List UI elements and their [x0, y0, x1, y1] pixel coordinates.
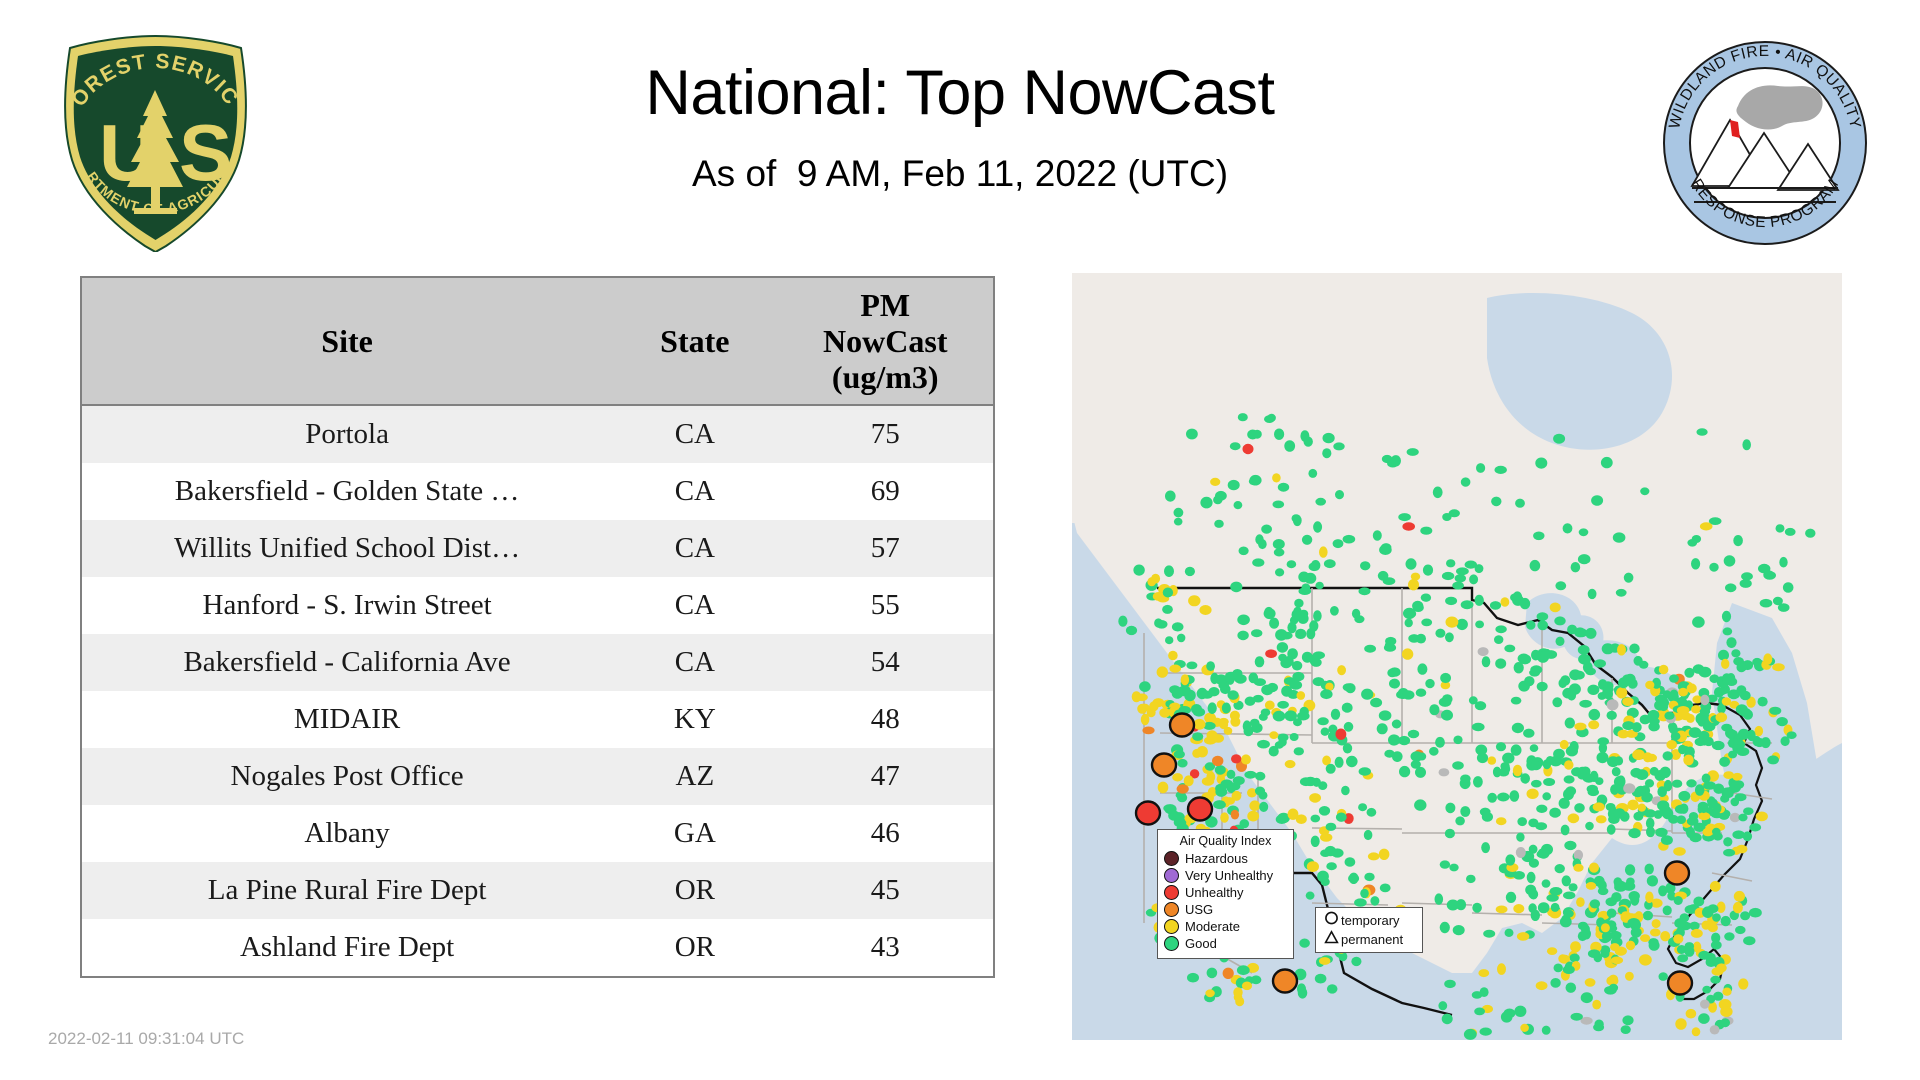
monitor-dot	[1578, 931, 1587, 941]
monitor-dot	[1377, 723, 1388, 734]
monitor-dot	[1722, 988, 1731, 996]
monitor-dot	[1631, 927, 1642, 937]
top-site-marker[interactable]	[1273, 970, 1297, 993]
monitor-dot	[1177, 784, 1189, 793]
monitor-dot	[1542, 1026, 1551, 1035]
cell-pm: 57	[778, 520, 994, 577]
monitor-dot	[1478, 969, 1489, 977]
monitor-dot	[1420, 527, 1432, 535]
monitor-dot	[1647, 875, 1658, 886]
legend-swatch-good-icon	[1164, 936, 1179, 951]
monitor-dot	[1778, 603, 1790, 612]
monitor-dot	[1700, 522, 1713, 530]
monitor-dot	[1599, 743, 1607, 754]
monitor-dot	[1710, 976, 1720, 984]
monitor-dot	[1645, 864, 1654, 875]
monitor-dot	[1613, 532, 1626, 542]
top-site-marker[interactable]	[1136, 802, 1160, 825]
monitor-dot	[1333, 442, 1344, 450]
monitor-dot	[1408, 579, 1419, 590]
monitor-dot	[1399, 766, 1410, 777]
monitor-dot	[1389, 667, 1401, 676]
monitor-dot	[1505, 854, 1515, 865]
monitor-dot	[1763, 571, 1776, 580]
monitor-dot	[1294, 599, 1303, 608]
legend-label-hazardous: Hazardous	[1185, 852, 1248, 866]
cell-site: Bakersfield - Golden State …	[81, 463, 612, 520]
legend-label-very-unhealthy: Very Unhealthy	[1185, 869, 1273, 883]
monitor-dot	[1589, 863, 1599, 873]
cell-pm: 75	[778, 405, 994, 463]
monitor-dot	[1337, 665, 1346, 675]
cell-site: Hanford - S. Irwin Street	[81, 577, 612, 634]
monitor-dot	[1618, 677, 1629, 688]
monitor-dot	[1466, 875, 1476, 883]
monitor-dot	[1699, 667, 1712, 678]
monitor-dot	[1543, 778, 1555, 786]
monitor-dot	[1564, 841, 1576, 850]
legend-swatch-moderate-icon	[1164, 919, 1179, 934]
monitor-dot	[1514, 1006, 1526, 1017]
table-row: Nogales Post Office AZ 47	[81, 748, 994, 805]
monitor-dot	[1677, 954, 1688, 962]
monitor-dot	[1783, 582, 1794, 593]
monitor-dot	[1675, 1018, 1686, 1030]
monitor-dot	[1418, 753, 1427, 761]
monitor-dot	[1200, 497, 1212, 509]
monitor-dot	[1326, 862, 1337, 870]
monitor-dot	[1755, 726, 1764, 736]
monitor-dot	[1738, 978, 1748, 989]
cell-pm: 69	[778, 463, 994, 520]
monitor-dot	[1587, 685, 1599, 695]
cell-pm: 45	[778, 862, 994, 919]
monitor-dot	[1439, 768, 1450, 776]
monitor-dot	[1118, 616, 1127, 627]
monitor-dot	[1585, 822, 1594, 831]
monitor-dot	[1591, 495, 1603, 506]
monitor-dot	[1607, 824, 1616, 834]
monitor-dot	[1289, 680, 1302, 689]
cell-site: MIDAIR	[81, 691, 612, 748]
monitor-dot	[1473, 776, 1483, 787]
monitor-dot	[1177, 634, 1185, 643]
monitor-dot	[1650, 767, 1659, 776]
monitor-dot	[1700, 695, 1709, 706]
cell-pm: 47	[778, 748, 994, 805]
monitor-dot	[1469, 574, 1478, 584]
monitor-dot	[1290, 733, 1299, 741]
aqi-legend-title: Air Quality Index	[1164, 834, 1287, 848]
top-site-marker[interactable]	[1152, 754, 1176, 777]
monitor-dot	[1378, 571, 1389, 581]
monitor-dot	[1710, 1025, 1720, 1034]
monitor-dot	[1461, 477, 1471, 486]
table-body: Portola CA 75 Bakersfield - Golden State…	[81, 405, 994, 977]
monitor-dot	[1723, 627, 1733, 635]
monitor-dot	[1691, 558, 1700, 569]
monitor-dot	[1456, 619, 1468, 630]
monitor-dot	[1245, 697, 1256, 706]
monitor-dot	[1207, 968, 1218, 979]
monitor-dot	[1304, 777, 1317, 786]
monitor-dot	[1228, 480, 1240, 490]
monitor-dot	[1716, 963, 1727, 972]
monitor-dot	[1495, 625, 1506, 633]
monitor-dot	[1322, 448, 1331, 458]
monitor-dot	[1709, 674, 1719, 683]
monitor-dot	[1692, 616, 1705, 627]
monitor-dot	[1278, 483, 1289, 492]
monitor-dot	[1425, 679, 1434, 688]
top-site-marker[interactable]	[1668, 972, 1692, 995]
monitor-dot	[1257, 740, 1270, 749]
monitor-dot	[1261, 709, 1271, 717]
monitor-dot	[1515, 499, 1525, 508]
monitor-dot	[1223, 968, 1234, 979]
monitor-dot	[1756, 812, 1768, 822]
monitor-dot	[1315, 498, 1326, 506]
monitor-dot	[1659, 972, 1668, 981]
cell-state: CA	[612, 520, 777, 577]
monitor-dot	[1455, 574, 1466, 582]
monitor-dot	[1636, 786, 1647, 795]
cell-pm: 43	[778, 919, 994, 977]
monitor-dot	[1569, 883, 1578, 891]
monitor-dot	[1336, 729, 1347, 740]
monitor-dot	[1702, 986, 1711, 994]
monitor-dot	[1677, 706, 1690, 715]
monitor-dot	[1661, 835, 1673, 845]
monitor-dot	[1250, 719, 1260, 727]
monitor-dot	[1293, 718, 1302, 726]
monitor-dot	[1408, 730, 1419, 739]
triangle-marker-icon	[1321, 930, 1341, 950]
monitor-dot	[1711, 941, 1722, 950]
cell-state: OR	[612, 919, 777, 977]
monitor-dot	[1275, 568, 1284, 576]
monitor-dot	[1520, 598, 1530, 609]
table-row: Ashland Fire Dept OR 43	[81, 919, 994, 977]
monitor-dot	[1554, 616, 1565, 625]
monitor-dot	[1292, 672, 1304, 681]
monitor-dot	[1547, 947, 1557, 955]
monitor-dot	[1645, 779, 1654, 787]
monitor-dot	[1574, 803, 1585, 813]
monitor-dot	[1698, 951, 1710, 960]
cell-site: Portola	[81, 405, 612, 463]
monitor-dot	[1202, 777, 1214, 786]
monitor-dot	[1251, 629, 1262, 637]
monitor-dot	[1354, 898, 1367, 906]
monitor-dot	[1494, 635, 1503, 644]
legend-item-usg: USG	[1164, 901, 1287, 918]
cell-site: Bakersfield - California Ave	[81, 634, 612, 691]
monitor-dot	[1264, 607, 1273, 618]
monitor-dot	[1364, 830, 1373, 840]
monitor-dot	[1769, 707, 1781, 715]
monitor-dot	[1570, 941, 1581, 952]
monitor-dot	[1749, 823, 1761, 831]
monitor-dot	[1358, 803, 1367, 811]
monitor-dot	[1721, 1018, 1730, 1027]
cell-site: Nogales Post Office	[81, 748, 612, 805]
monitor-dot	[1435, 893, 1444, 904]
monitor-dot	[1481, 842, 1490, 853]
monitor-dot	[1455, 816, 1465, 825]
monitor-dot	[1578, 645, 1590, 655]
monitor-dot	[1658, 885, 1667, 896]
monitor-dot	[1142, 727, 1154, 735]
monitor-dot	[1556, 637, 1565, 646]
monitor-dot	[1698, 731, 1709, 740]
monitor-dot	[1149, 701, 1158, 711]
monitor-dot	[1460, 806, 1470, 817]
monitor-dot	[1698, 1013, 1710, 1024]
monitor-dot	[1720, 1006, 1732, 1017]
monitor-dot	[1385, 640, 1395, 651]
monitor-dot	[1528, 819, 1538, 828]
monitor-dot	[1738, 708, 1751, 717]
monitor-dot	[1785, 528, 1796, 536]
monitor-dot	[1252, 558, 1264, 566]
monitor-dot	[1650, 929, 1661, 937]
legend-item-moderate: Moderate	[1164, 918, 1287, 935]
legend-swatch-hazardous-icon	[1164, 851, 1179, 866]
monitor-dot	[1313, 651, 1325, 659]
monitor-dot	[1165, 491, 1176, 502]
monitor-dot	[1571, 1013, 1583, 1021]
monitor-dot	[1648, 722, 1659, 732]
monitor-dot	[1722, 611, 1731, 622]
monitor-dot	[1609, 984, 1618, 992]
legend-label-temporary: temporary	[1341, 913, 1400, 928]
monitor-dot	[1640, 934, 1650, 942]
monitor-dot	[1506, 892, 1516, 903]
monitor-dot	[1472, 903, 1482, 913]
monitor-dot	[1311, 815, 1321, 823]
monitor-dot	[1657, 800, 1669, 810]
monitor-dot	[1628, 918, 1641, 927]
monitor-dot	[1230, 442, 1241, 450]
legend-swatch-unhealthy-icon	[1164, 885, 1179, 900]
monitor-dot	[1212, 756, 1223, 766]
monitor-dot	[1440, 922, 1450, 933]
cell-pm: 55	[778, 577, 994, 634]
monitor-dot	[1442, 513, 1451, 521]
top-site-marker[interactable]	[1188, 798, 1212, 821]
monitor-dot	[1237, 631, 1248, 641]
monitor-dot	[1565, 786, 1576, 796]
monitor-dot	[1275, 629, 1287, 641]
monitor-dot	[1721, 916, 1731, 926]
monitor-dot	[1280, 658, 1292, 668]
monitor-dot	[1442, 694, 1453, 704]
monitor-dot	[1442, 572, 1454, 580]
column-header-state: State	[612, 277, 777, 405]
monitor-dot	[1163, 804, 1175, 812]
monitor-dot	[1610, 931, 1622, 940]
monitor-dot	[1197, 746, 1208, 757]
monitor-dot	[1563, 523, 1573, 533]
monitor-dot	[1722, 673, 1732, 684]
monitor-dot	[1168, 651, 1178, 660]
monitor-dot	[1364, 645, 1376, 653]
table-row: Albany GA 46	[81, 805, 994, 862]
monitor-dot	[1480, 987, 1489, 997]
monitor-dot	[1222, 703, 1231, 714]
footer-timestamp: 2022-02-11 09:31:04 UTC	[48, 1029, 244, 1049]
monitor-dot	[1683, 755, 1693, 766]
monitor-dot	[1341, 786, 1350, 796]
monitor-dot	[1309, 793, 1321, 803]
monitor-dot	[1549, 808, 1561, 818]
monitor-dot	[1360, 561, 1370, 570]
top-site-marker[interactable]	[1665, 862, 1689, 885]
monitor-dot	[1638, 804, 1646, 812]
monitor-dot	[1247, 811, 1259, 822]
monitor-dot	[1550, 978, 1560, 988]
monitor-dot	[1623, 783, 1635, 793]
legend-label-unhealthy: Unhealthy	[1185, 886, 1244, 900]
monitor-dot	[1621, 911, 1630, 921]
monitor-dot	[1552, 697, 1562, 707]
cell-site: La Pine Rural Fire Dept	[81, 862, 612, 919]
monitor-dot	[1476, 463, 1485, 473]
monitor-dot	[1663, 690, 1672, 698]
monitor-dot	[1622, 697, 1634, 706]
monitor-dot	[1302, 652, 1313, 663]
monitor-dot	[1269, 746, 1279, 757]
monitor-dot	[1255, 534, 1263, 544]
monitor-dot	[1460, 775, 1471, 783]
cell-state: CA	[612, 463, 777, 520]
monitor-dot	[1738, 814, 1747, 822]
monitor-dot	[1154, 618, 1163, 627]
monitor-dot	[1645, 809, 1656, 818]
monitor-dot	[1737, 747, 1750, 756]
monitor-dot	[1602, 643, 1614, 654]
monitor-dot	[1359, 587, 1371, 595]
legend-item-temporary: temporary	[1321, 911, 1417, 930]
monitor-dot	[1596, 815, 1607, 823]
monitor-dot	[1740, 579, 1752, 588]
table-row: Portola CA 75	[81, 405, 994, 463]
monitor-dot	[1370, 698, 1382, 708]
monitor-dot	[1622, 1015, 1633, 1025]
monitor-dot	[1678, 791, 1690, 801]
monitor-dot	[1747, 730, 1756, 741]
monitor-dot	[1517, 817, 1527, 826]
monitor-dot	[1510, 593, 1521, 602]
monitor-dot	[1475, 621, 1484, 629]
monitor-dot	[1593, 802, 1605, 811]
monitor-dot	[1686, 1009, 1697, 1019]
monitor-dot	[1607, 909, 1617, 918]
monitor-dot	[1776, 524, 1785, 532]
monitor-dot	[1237, 615, 1250, 626]
monitor-dot	[1630, 768, 1642, 778]
monitor-dot	[1402, 690, 1414, 699]
monitor-dot	[1574, 723, 1586, 731]
monitor-dot	[1723, 837, 1732, 846]
monitor-dot	[1626, 941, 1635, 951]
table-row: MIDAIR KY 48	[81, 691, 994, 748]
monitor-dot	[1259, 802, 1268, 812]
monitor-dot	[1629, 644, 1639, 654]
monitor-dot	[1405, 619, 1413, 628]
monitor-dot	[1554, 964, 1563, 973]
monitor-dot	[1174, 518, 1183, 526]
monitor-dot	[1191, 704, 1202, 714]
table-row: Willits Unified School Dist… CA 57	[81, 520, 994, 577]
monitor-dot	[1406, 558, 1417, 569]
monitor-dot	[1320, 689, 1332, 699]
monitor-dot	[1525, 885, 1536, 896]
monitor-dot	[1412, 601, 1423, 611]
monitor-dot	[1594, 659, 1606, 668]
monitor-dot	[1313, 677, 1325, 686]
monitor-dot	[1609, 975, 1618, 984]
monitor-dot	[1550, 887, 1563, 895]
monitor-dot	[1276, 815, 1288, 824]
top-site-marker[interactable]	[1170, 714, 1194, 737]
monitor-dot	[1505, 929, 1514, 937]
monitor-dot	[1174, 750, 1185, 758]
monitor-dot	[1734, 891, 1745, 902]
monitor-dot	[1555, 581, 1566, 590]
monitor-dot	[1724, 555, 1736, 566]
monitor-dot	[1607, 711, 1617, 720]
monitor-dot	[1749, 908, 1762, 918]
monitor-dot	[1315, 974, 1327, 984]
monitor-dot	[1335, 490, 1344, 499]
monitor-dot	[1267, 683, 1278, 692]
monitor-dot	[1722, 791, 1734, 799]
monitor-dot	[1440, 860, 1450, 868]
monitor-dot	[1126, 626, 1137, 635]
monitor-dot	[1184, 690, 1196, 702]
monitor-dot	[1657, 786, 1667, 797]
monitor-dot	[1542, 792, 1551, 800]
monitor-dot	[1731, 649, 1740, 657]
monitor-dot	[1326, 764, 1336, 774]
legend-swatch-very-unhealthy-icon	[1164, 868, 1179, 883]
monitor-dot	[1634, 656, 1643, 666]
monitor-dot	[1361, 689, 1373, 700]
monitor-dot	[1718, 650, 1729, 661]
monitor-dot	[1241, 754, 1251, 764]
monitor-dot	[1247, 430, 1258, 440]
monitor-dot	[1772, 663, 1785, 671]
monitor-dot	[1323, 433, 1335, 443]
monitor-dot	[1343, 743, 1352, 753]
monitor-dot	[1232, 791, 1242, 801]
cell-state: GA	[612, 805, 777, 862]
cell-pm: 48	[778, 691, 994, 748]
monitor-dot	[1319, 546, 1328, 557]
monitor-dot	[1628, 829, 1639, 837]
monitor-dot	[1691, 929, 1703, 938]
monitor-dot	[1723, 771, 1734, 779]
monitor-dot	[1351, 957, 1361, 966]
monitor-dot	[1663, 906, 1672, 916]
monitor-dot	[1360, 889, 1369, 898]
monitor-dot	[1679, 804, 1688, 814]
cell-pm: 54	[778, 634, 994, 691]
legend-label-moderate: Moderate	[1185, 920, 1240, 934]
monitor-dot	[1388, 734, 1400, 745]
